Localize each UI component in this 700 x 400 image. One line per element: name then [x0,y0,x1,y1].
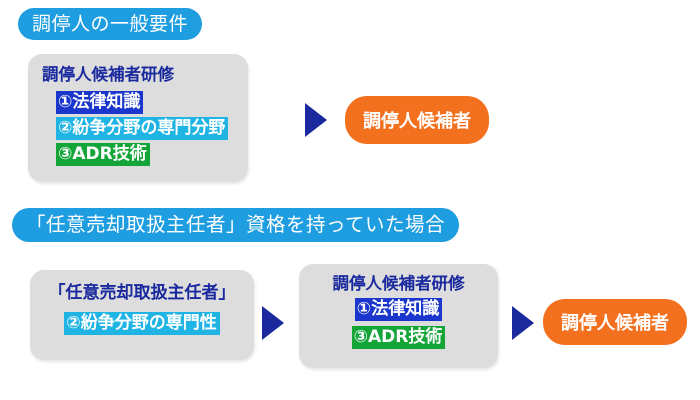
requirement-chip-adr-technique: ③ADR技術 [352,326,446,349]
requirement-chip-adr-technique: ③ADR技術 [56,143,150,166]
triangle-right-icon [305,103,327,137]
requirement-chip-law-knowledge: ①法律知識 [355,298,442,321]
requirement-chip-list-qualification: ②紛争分野の専門性 [30,312,254,335]
triangle-right-icon [512,306,534,340]
group-box-training-bottom: 調停人候補者研修 ①法律知識 ③ADR技術 [299,264,498,368]
section-badge-qualification-condition: 「任意売却取扱主任者」資格を持っていた場合 [12,208,459,242]
result-pill-mediator-candidate-bottom: 調停人候補者 [543,299,687,345]
group-box-qualification: 「任意売却取扱主任者」 ②紛争分野の専門性 [30,270,254,360]
requirement-chip-list-bottom: ①法律知識 ③ADR技術 [299,298,498,349]
requirement-chip-law-knowledge: ①法律知識 [56,91,143,114]
group-box-title: 「任意売却取扱主任者」 [30,284,254,304]
requirement-chip-dispute-specialty: ②紛争分野の専門性 [64,312,219,335]
group-box-title: 調停人候補者研修 [299,275,498,294]
result-pill-mediator-candidate-top: 調停人候補者 [345,96,489,144]
section-badge-general-requirements: 調停人の一般要件 [18,8,202,40]
requirement-chip-dispute-specialty: ②紛争分野の専門分野 [56,117,228,140]
group-box-training-top: 調停人候補者研修 ①法律知識 ②紛争分野の専門分野 ③ADR技術 [28,54,248,182]
triangle-right-icon [262,306,284,340]
group-box-title: 調停人候補者研修 [42,66,174,85]
requirement-chip-list-top: ①法律知識 ②紛争分野の専門分野 ③ADR技術 [56,91,228,166]
diagram-canvas: 調停人の一般要件 調停人候補者研修 ①法律知識 ②紛争分野の専門分野 ③ADR技… [0,0,700,400]
